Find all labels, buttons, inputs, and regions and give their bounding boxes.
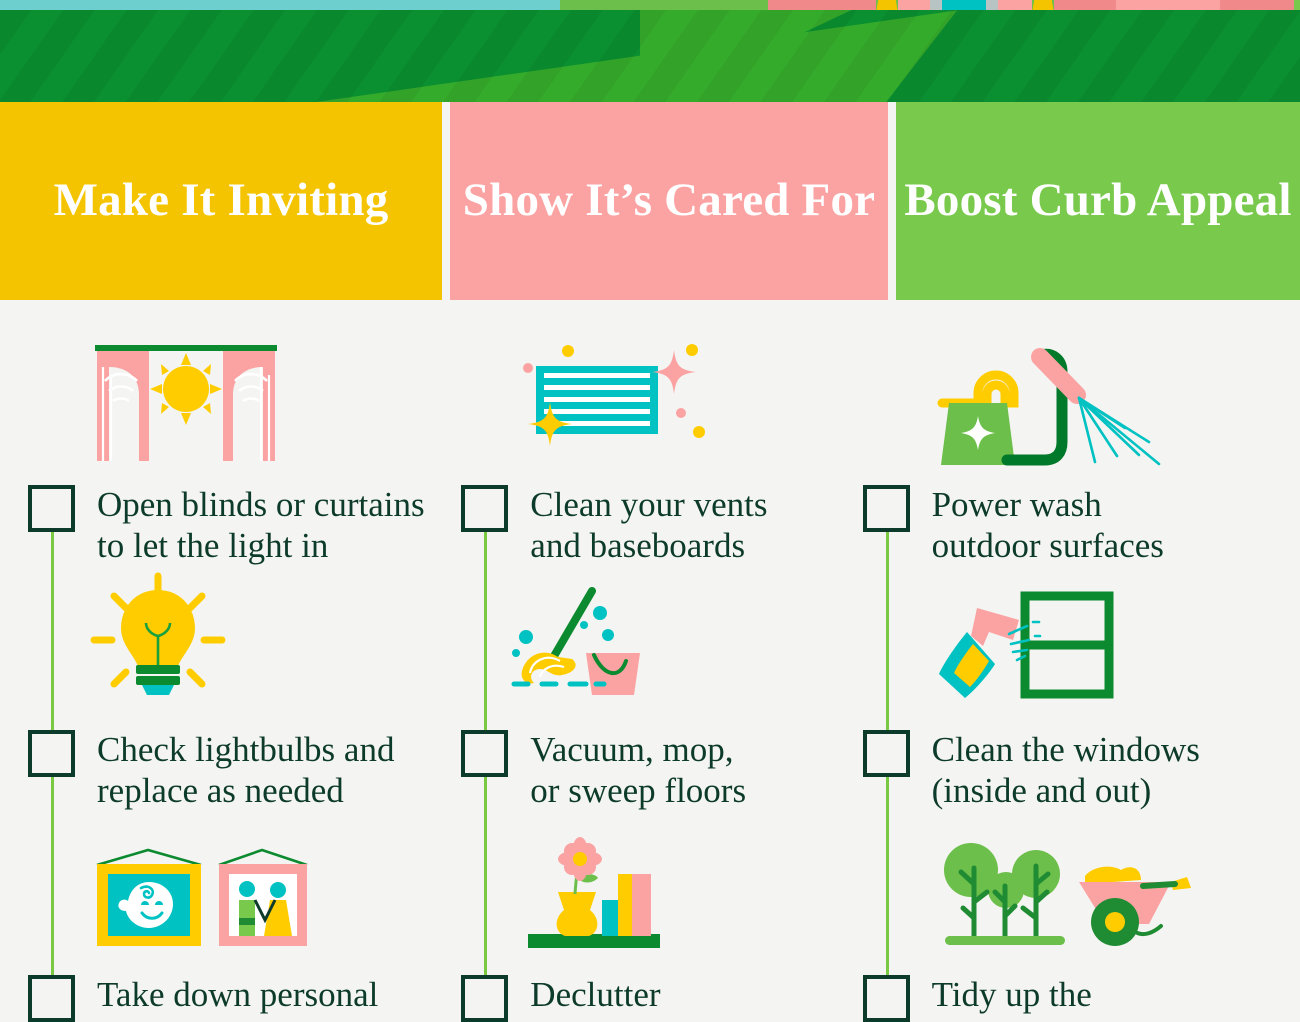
checkbox[interactable] <box>28 485 75 532</box>
checklist-item[interactable]: Tidy up the <box>863 975 1092 1022</box>
checklist-item[interactable]: Take down personal <box>28 975 378 1022</box>
checklist-item[interactable]: Declutter <box>461 975 660 1022</box>
category-header-bands: Make It Inviting Show It’s Cared For Boo… <box>0 102 1300 300</box>
checklist-item-label: Declutter <box>530 975 660 1016</box>
checklist-item[interactable]: Power wash outdoor surfaces <box>863 485 1164 566</box>
checklist-item-label: Power wash outdoor surfaces <box>932 485 1164 566</box>
shelf-decor-icon <box>528 840 668 952</box>
band-show-its-cared-for: Show It’s Cared For <box>450 102 888 300</box>
checklist-item-label: Clean the windows (inside and out) <box>932 730 1200 811</box>
picture-frames-icon <box>95 842 305 952</box>
checklist-item[interactable]: Open blinds or curtains to let the light… <box>28 485 425 566</box>
checklist-item-label: Check lightbulbs and replace as needed <box>97 730 394 811</box>
band-divider-0 <box>442 102 450 300</box>
curtains-sun-icon <box>95 345 277 465</box>
checkbox[interactable] <box>28 975 75 1022</box>
checklist-item-label: Tidy up the <box>932 975 1092 1016</box>
mop-bucket-icon <box>508 585 708 695</box>
checklist-item[interactable]: Check lightbulbs and replace as needed <box>28 730 394 811</box>
checkbox[interactable] <box>461 730 508 777</box>
checkbox[interactable] <box>28 730 75 777</box>
checkbox[interactable] <box>863 730 910 777</box>
checklist-item[interactable]: Vacuum, mop, or sweep floors <box>461 730 746 811</box>
checklist-item[interactable]: Clean the windows (inside and out) <box>863 730 1200 811</box>
band-boost-curb-appeal: Boost Curb Appeal <box>896 102 1300 300</box>
band-divider-1 <box>888 102 896 300</box>
column-make-it-inviting: Open blinds or curtains to let the light… <box>0 300 433 1000</box>
column-show-its-cared-for: Clean your vents and baseboards <box>433 300 866 1000</box>
band-title-1: Show It’s Cared For <box>463 174 875 227</box>
checklist-item-label: Vacuum, mop, or sweep floors <box>530 730 746 811</box>
power-washer-icon <box>927 338 1187 468</box>
checklist-item-label: Open blinds or curtains to let the light… <box>97 485 425 566</box>
top-scene-banner <box>0 0 1300 102</box>
lawn <box>0 10 1300 102</box>
checklist-item-label: Take down personal <box>97 975 378 1016</box>
checklist-item[interactable]: Clean your vents and baseboards <box>461 485 767 566</box>
lightbulb-icon <box>88 572 228 694</box>
spray-bottle-window-icon <box>927 588 1127 700</box>
checklist-columns: Open blinds or curtains to let the light… <box>0 300 1300 1000</box>
checklist-item-label: Clean your vents and baseboards <box>530 485 767 566</box>
band-title-2: Boost Curb Appeal <box>904 174 1291 227</box>
band-make-it-inviting: Make It Inviting <box>0 102 442 300</box>
checkbox[interactable] <box>863 485 910 532</box>
checkbox[interactable] <box>461 485 508 532</box>
checkbox[interactable] <box>863 975 910 1022</box>
band-title-0: Make It Inviting <box>54 174 389 227</box>
lawn-stripes <box>0 10 1300 102</box>
column-boost-curb-appeal: Power wash outdoor surfaces <box>867 300 1300 1000</box>
air-vent-icon <box>506 342 706 467</box>
trees-wheelbarrow-icon <box>935 840 1195 952</box>
checkbox[interactable] <box>461 975 508 1022</box>
